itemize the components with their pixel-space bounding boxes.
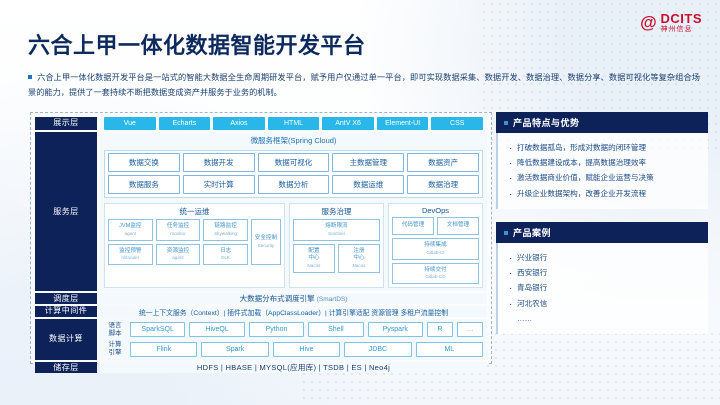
ops-cell-alert-monitor[interactable]: 监控预警 nGrinder [108, 244, 153, 266]
engine-jdbc[interactable]: JDBC [344, 342, 411, 357]
cases-panel-body: 兴业银行 西安银行 青岛银行 河北农信 …… [496, 243, 708, 334]
module-master-data-management[interactable]: 主数据管理 [332, 153, 404, 172]
case-item-3: 青岛银行 [508, 280, 698, 295]
devops-top-row: 代码管理 文档管理 [392, 217, 479, 235]
service-governance-title: 服务治理 [293, 206, 380, 217]
layer-row-presentation: 展示层 Vue Echarts Axios HTML AntV X6 Eleme… [35, 117, 487, 130]
module-data-service[interactable]: 数据服务 [108, 175, 180, 194]
layer-label-compute-l1: 数据 [49, 334, 66, 344]
lang-python[interactable]: Python [249, 322, 304, 337]
feature-item-3: 激活数据商业价值，赋能企业运营与决策 [508, 170, 698, 185]
features-list: 打破数据孤岛，形成对数据的闭环管理 降低数据建设成本，提高数据治理效率 激活数据… [508, 140, 698, 201]
lang-more[interactable]: … [457, 322, 483, 337]
gov-center-row: 配置 中心 Nacos 注册 中心 Nacos [293, 244, 380, 273]
devops-grid: 代码管理 文档管理 持续集成 Gitlab-CI 持续交付 Gitlab-CD [392, 217, 479, 284]
compute-language-tag-l1: 语言 [109, 322, 122, 329]
devops-cell-code-management[interactable]: 代码管理 [392, 217, 434, 235]
bullet-square-icon [504, 121, 508, 125]
engine-hive[interactable]: Hive [273, 342, 340, 357]
ops-cell-task-monitor[interactable]: 任务监控 monitor [156, 219, 201, 241]
layer-row-service: 服务层 微服务框架(Spring Cloud) 数据交换 数据开发 数据可视化 … [35, 132, 487, 291]
middleware-capability-text: 统一上下文服务（Context）| 插件式加载（AppClassLoader）|… [100, 307, 487, 317]
lang-hiveql[interactable]: HiveQL [189, 322, 244, 337]
gov-cell-registry-center-en: Nacos [340, 263, 378, 269]
ops-cell-resource-monitor[interactable]: 资源监控 agent [156, 244, 201, 266]
compute-engine-tag: 计算 引擎 [104, 341, 126, 357]
lang-sparksql[interactable]: SparkSQL [130, 322, 185, 337]
bullet-square-icon [504, 231, 508, 235]
gov-cell-registry-center[interactable]: 注册 中心 Nacos [338, 244, 380, 273]
layer-row-compute: 数据 计算 语言 脚本 SparkSQL HiveQL Python She [35, 319, 487, 361]
gov-cell-config-center-cn2: 中心 [295, 255, 333, 263]
ops-cell-group: JVM监控 agent 任务监控 monitor 链路监控 [108, 219, 248, 265]
scheduler-engine-text: 大数据分布式调度引擎 (SmartDS) [100, 293, 487, 304]
layer-row-middleware: 计算中间件 统一上下文服务（Context）| 插件式加载（AppClassLo… [35, 306, 487, 316]
tech-chip-antvx6[interactable]: AntV X6 [322, 117, 374, 130]
subtitle-text: 六合上甲一体化数据开发平台是一站式的智能大数据全生命周期研发平台，赋予用户仅通过… [28, 73, 700, 97]
unified-ops-panel: 统一运维 JVM监控 agent 任务监控 monitor [104, 203, 285, 288]
case-item-2: 西安银行 [508, 265, 698, 280]
tech-chip-css[interactable]: CSS [431, 117, 483, 130]
case-item-more: …… [508, 311, 698, 326]
layer-label-presentation: 展示层 [35, 117, 97, 130]
devops-panel: DevOps 代码管理 文档管理 持续集成 Gitlab-CI [388, 203, 483, 288]
storage-body: HDFS | HBASE | MYSQL(应用库) | TSDB | ES | … [100, 362, 487, 373]
layer-label-service: 服务层 [35, 132, 97, 291]
feature-item-1: 打破数据孤岛，形成对数据的闭环管理 [508, 140, 698, 155]
layer-label-storage: 储存层 [35, 362, 97, 373]
devops-cell-ci-en: Gitlab-CI [394, 250, 477, 256]
cases-panel-header: 产品案例 [496, 222, 708, 243]
layer-row-storage: 储存层 HDFS | HBASE | MYSQL(应用库) | TSDB | E… [35, 362, 487, 373]
layer-label-middleware: 计算中间件 [35, 306, 97, 316]
unified-ops-title: 统一运维 [108, 206, 281, 217]
dcits-logo-icon: @ [640, 14, 657, 31]
presentation-chip-list: Vue Echarts Axios HTML AntV X6 Element-U… [100, 117, 487, 130]
ops-cell-log[interactable]: 日志 ELK [203, 244, 248, 266]
service-modules-row-1: 数据交换 数据开发 数据可视化 主数据管理 数据资产 [108, 153, 479, 172]
case-item-1: 兴业银行 [508, 250, 698, 265]
ops-cell-jvm-monitor-cn: JVM监控 [110, 223, 151, 231]
cases-panel-title: 产品案例 [513, 226, 551, 239]
features-panel: 产品特点与优势 打破数据孤岛，形成对数据的闭环管理 降低数据建设成本，提高数据治… [496, 112, 708, 209]
ops-cell-trace-monitor[interactable]: 链路监控 Skywalking [203, 219, 248, 241]
tech-chip-vue[interactable]: Vue [104, 117, 156, 130]
lang-pyspark[interactable]: Pyspark [368, 322, 423, 337]
tech-chip-axios[interactable]: Axios [213, 117, 265, 130]
module-data-exchange[interactable]: 数据交换 [108, 153, 180, 172]
service-module-grid: 数据交换 数据开发 数据可视化 主数据管理 数据资产 数据服务 实时计算 数据分… [104, 150, 483, 198]
cases-list: 兴业银行 西安银行 青岛银行 河北农信 …… [508, 250, 698, 326]
ops-cell-security-cn: 安全控制 [253, 235, 279, 243]
gov-cell-circuit-breaker[interactable]: 熔断限流 Sentinel [293, 219, 380, 241]
compute-engine-list: Flink Spark Hive JDBC ML [130, 342, 483, 357]
compute-language-tag-l2: 脚本 [109, 330, 122, 337]
gov-cell-circuit-breaker-cn: 熔断限流 [295, 223, 378, 231]
layer-label-compute-l2: 计算 [66, 334, 83, 344]
microservice-framework-title: 微服务框架(Spring Cloud) [104, 134, 483, 148]
feature-item-2: 降低数据建设成本，提高数据治理效率 [508, 155, 698, 170]
compute-engine-tag-l2: 引擎 [109, 349, 122, 356]
scheduler-engine-cn: 大数据分布式调度引擎 [240, 294, 315, 303]
scheduler-body: 大数据分布式调度引擎 (SmartDS) [100, 293, 487, 304]
devops-title: DevOps [392, 206, 479, 215]
devops-cell-cd[interactable]: 持续交付 Gitlab-CD [392, 263, 479, 285]
devops-cell-cd-cn: 持续交付 [394, 267, 477, 275]
architecture-diagram: 展示层 Vue Echarts Axios HTML AntV X6 Eleme… [30, 112, 492, 364]
logo-en: DCITS [661, 12, 703, 26]
tech-chip-elementui[interactable]: Element-UI [377, 117, 429, 130]
brand-logo: @ DCITS 神州信息 [640, 12, 702, 33]
compute-engine-tag-l1: 计算 [109, 341, 122, 348]
logo-text: DCITS 神州信息 [661, 12, 703, 33]
feature-item-4: 升级企业数据架构，改善企业开发流程 [508, 186, 698, 201]
page-subtitle: 六合上甲一体化数据开发平台是一站式的智能大数据全生命周期研发平台，赋予用户仅通过… [28, 70, 700, 100]
ops-cell-jvm-monitor[interactable]: JVM监控 agent [108, 219, 153, 241]
ops-cell-trace-monitor-cn: 链路监控 [205, 223, 246, 231]
service-support-columns: 统一运维 JVM监控 agent 任务监控 monitor [104, 203, 483, 288]
gov-cell-circuit-breaker-en: Sentinel [295, 231, 378, 237]
devops-cell-doc-management[interactable]: 文档管理 [437, 217, 479, 235]
gov-cell-config-center[interactable]: 配置 中心 Nacos [293, 244, 335, 273]
module-data-governance[interactable]: 数据治理 [407, 175, 479, 194]
engine-flink[interactable]: Flink [130, 342, 197, 357]
engine-spark[interactable]: Spark [201, 342, 268, 357]
service-governance-grid: 熔断限流 Sentinel 配置 中心 Nacos [293, 219, 380, 273]
gov-cell-config-center-en: Nacos [295, 263, 333, 269]
ops-cell-alert-monitor-en: nGrinder [110, 255, 151, 261]
ops-cell-jvm-monitor-en: agent [110, 231, 151, 237]
module-data-asset[interactable]: 数据资产 [407, 153, 479, 172]
module-realtime-compute[interactable]: 实时计算 [183, 175, 255, 194]
middleware-body: 统一上下文服务（Context）| 插件式加载（AppClassLoader）|… [100, 306, 487, 316]
bullet-square-icon [28, 75, 32, 79]
ops-cell-trace-monitor-en: Skywalking [205, 231, 246, 237]
features-panel-title: 产品特点与优势 [513, 116, 580, 129]
module-data-visualization[interactable]: 数据可视化 [258, 153, 330, 172]
compute-body: 语言 脚本 SparkSQL HiveQL Python Shell Pyspa… [100, 319, 487, 361]
layer-row-scheduler: 调度层 大数据分布式调度引擎 (SmartDS) [35, 293, 487, 304]
module-data-development[interactable]: 数据开发 [183, 153, 255, 172]
compute-language-row: 语言 脚本 SparkSQL HiveQL Python Shell Pyspa… [104, 322, 483, 338]
cases-panel: 产品案例 兴业银行 西安银行 青岛银行 河北农信 …… [496, 222, 708, 334]
slide-canvas: @ DCITS 神州信息 六合上甲一体化数据智能开发平台 六合上甲一体化数据开发… [0, 0, 720, 405]
lang-r[interactable]: R [427, 322, 453, 337]
lang-shell[interactable]: Shell [308, 322, 363, 337]
ops-cell-log-en: ELK [205, 255, 246, 261]
presentation-body: Vue Echarts Axios HTML AntV X6 Element-U… [100, 117, 487, 130]
layer-stack: 展示层 Vue Echarts Axios HTML AntV X6 Eleme… [35, 117, 487, 359]
tech-chip-echarts[interactable]: Echarts [159, 117, 211, 130]
ops-cell-alert-monitor-cn: 监控预警 [110, 248, 151, 256]
devops-cell-ci-cn: 持续集成 [394, 242, 477, 250]
ops-cell-security[interactable]: 安全控制 Security [251, 219, 281, 265]
case-item-4: 河北农信 [508, 296, 698, 311]
compute-engine-row: 计算 引擎 Flink Spark Hive JDBC ML [104, 341, 483, 357]
ops-cell-task-monitor-en: monitor [158, 231, 199, 237]
unified-ops-grid: JVM监控 agent 任务监控 monitor 链路监控 [108, 219, 281, 265]
ops-cell-security-en: Security [253, 243, 279, 249]
features-panel-body: 打破数据孤岛，形成对数据的闭环管理 降低数据建设成本，提高数据治理效率 激活数据… [496, 133, 708, 209]
layer-label-scheduler: 调度层 [35, 293, 97, 304]
ops-cell-log-cn: 日志 [205, 248, 246, 256]
page-title: 六合上甲一体化数据智能开发平台 [28, 28, 366, 60]
gov-cell-registry-center-cn2: 中心 [340, 255, 378, 263]
ops-cell-resource-monitor-cn: 资源监控 [158, 248, 199, 256]
compute-language-tag: 语言 脚本 [104, 322, 126, 338]
storage-tech-text: HDFS | HBASE | MYSQL(应用库) | TSDB | ES | … [100, 362, 487, 373]
service-body: 微服务框架(Spring Cloud) 数据交换 数据开发 数据可视化 主数据管… [100, 132, 487, 291]
compute-language-list: SparkSQL HiveQL Python Shell Pyspark R … [130, 322, 483, 337]
scheduler-engine-en: (SmartDS) [317, 296, 348, 303]
module-data-analysis[interactable]: 数据分析 [258, 175, 330, 194]
layer-label-compute: 数据 计算 [35, 319, 97, 361]
engine-ml[interactable]: ML [416, 342, 483, 357]
logo-cn: 神州信息 [661, 26, 703, 33]
tech-chip-html[interactable]: HTML [268, 117, 320, 130]
ops-cell-task-monitor-cn: 任务监控 [158, 223, 199, 231]
service-governance-panel: 服务治理 熔断限流 Sentinel 配置 中心 [289, 203, 384, 288]
service-modules-row-2: 数据服务 实时计算 数据分析 数据运维 数据治理 [108, 175, 479, 194]
module-data-operations[interactable]: 数据运维 [332, 175, 404, 194]
devops-cell-ci[interactable]: 持续集成 Gitlab-CI [392, 238, 479, 260]
devops-cell-cd-en: Gitlab-CD [394, 274, 477, 280]
ops-cell-resource-monitor-en: agent [158, 255, 199, 261]
features-panel-header: 产品特点与优势 [496, 112, 708, 133]
